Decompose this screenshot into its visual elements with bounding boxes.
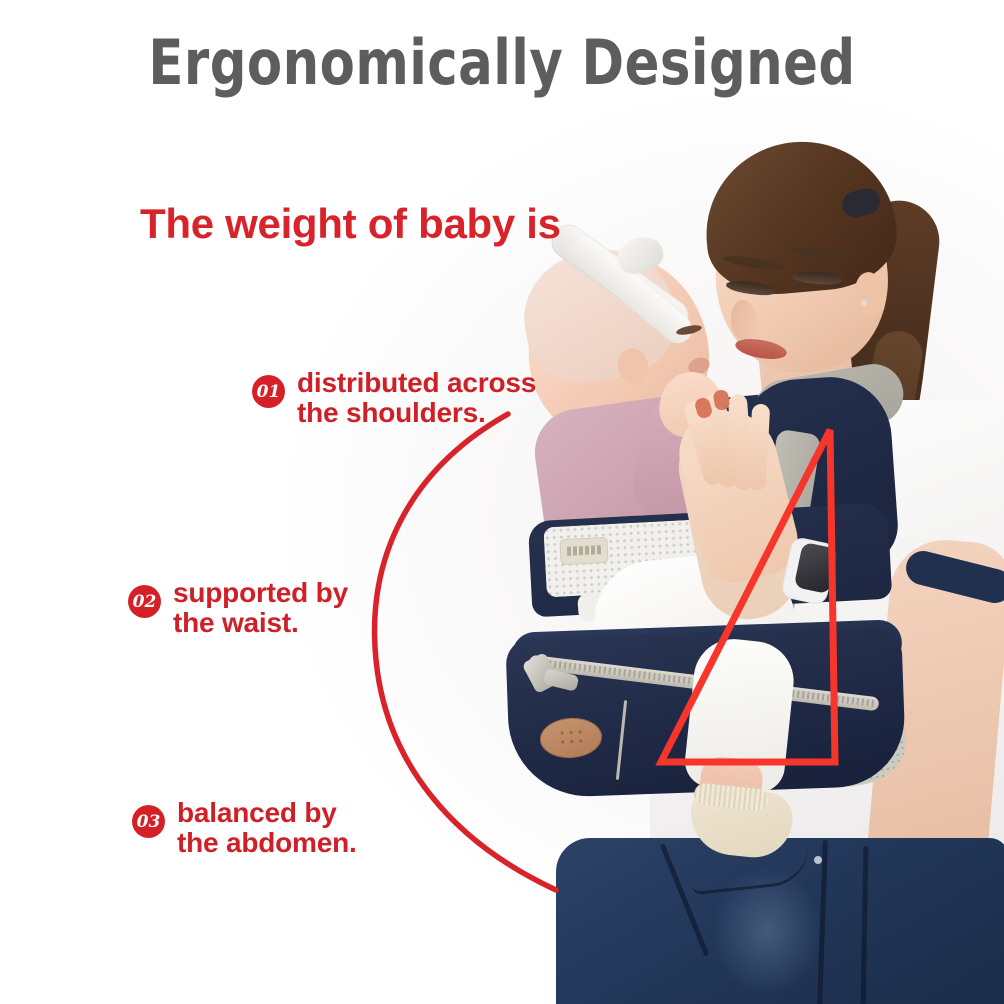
bullet-item-03: 03 balanced by the abdomen. xyxy=(132,798,357,858)
carrier-brand-label xyxy=(559,537,608,565)
infographic-canvas: Ergonomically Designed The weight of bab… xyxy=(0,0,1004,1004)
bullet-badge-03: 03 xyxy=(132,805,165,838)
page-subtitle: The weight of baby is xyxy=(140,200,561,248)
page-title: Ergonomically Designed xyxy=(40,26,964,99)
bullet-text-02: supported by the waist. xyxy=(173,578,348,638)
bullet-item-02: 02 supported by the waist. xyxy=(128,578,348,638)
bullet-badge-02: 02 xyxy=(128,585,161,618)
bullet-item-01: 01 distributed across the shoulders. xyxy=(252,368,536,428)
bullet-badge-01: 01 xyxy=(252,375,285,408)
bullet-text-03: balanced by the abdomen. xyxy=(177,798,357,858)
jeans-button xyxy=(814,856,822,864)
bullet-text-01: distributed across the shoulders. xyxy=(297,368,536,428)
woman-earring xyxy=(861,300,867,306)
